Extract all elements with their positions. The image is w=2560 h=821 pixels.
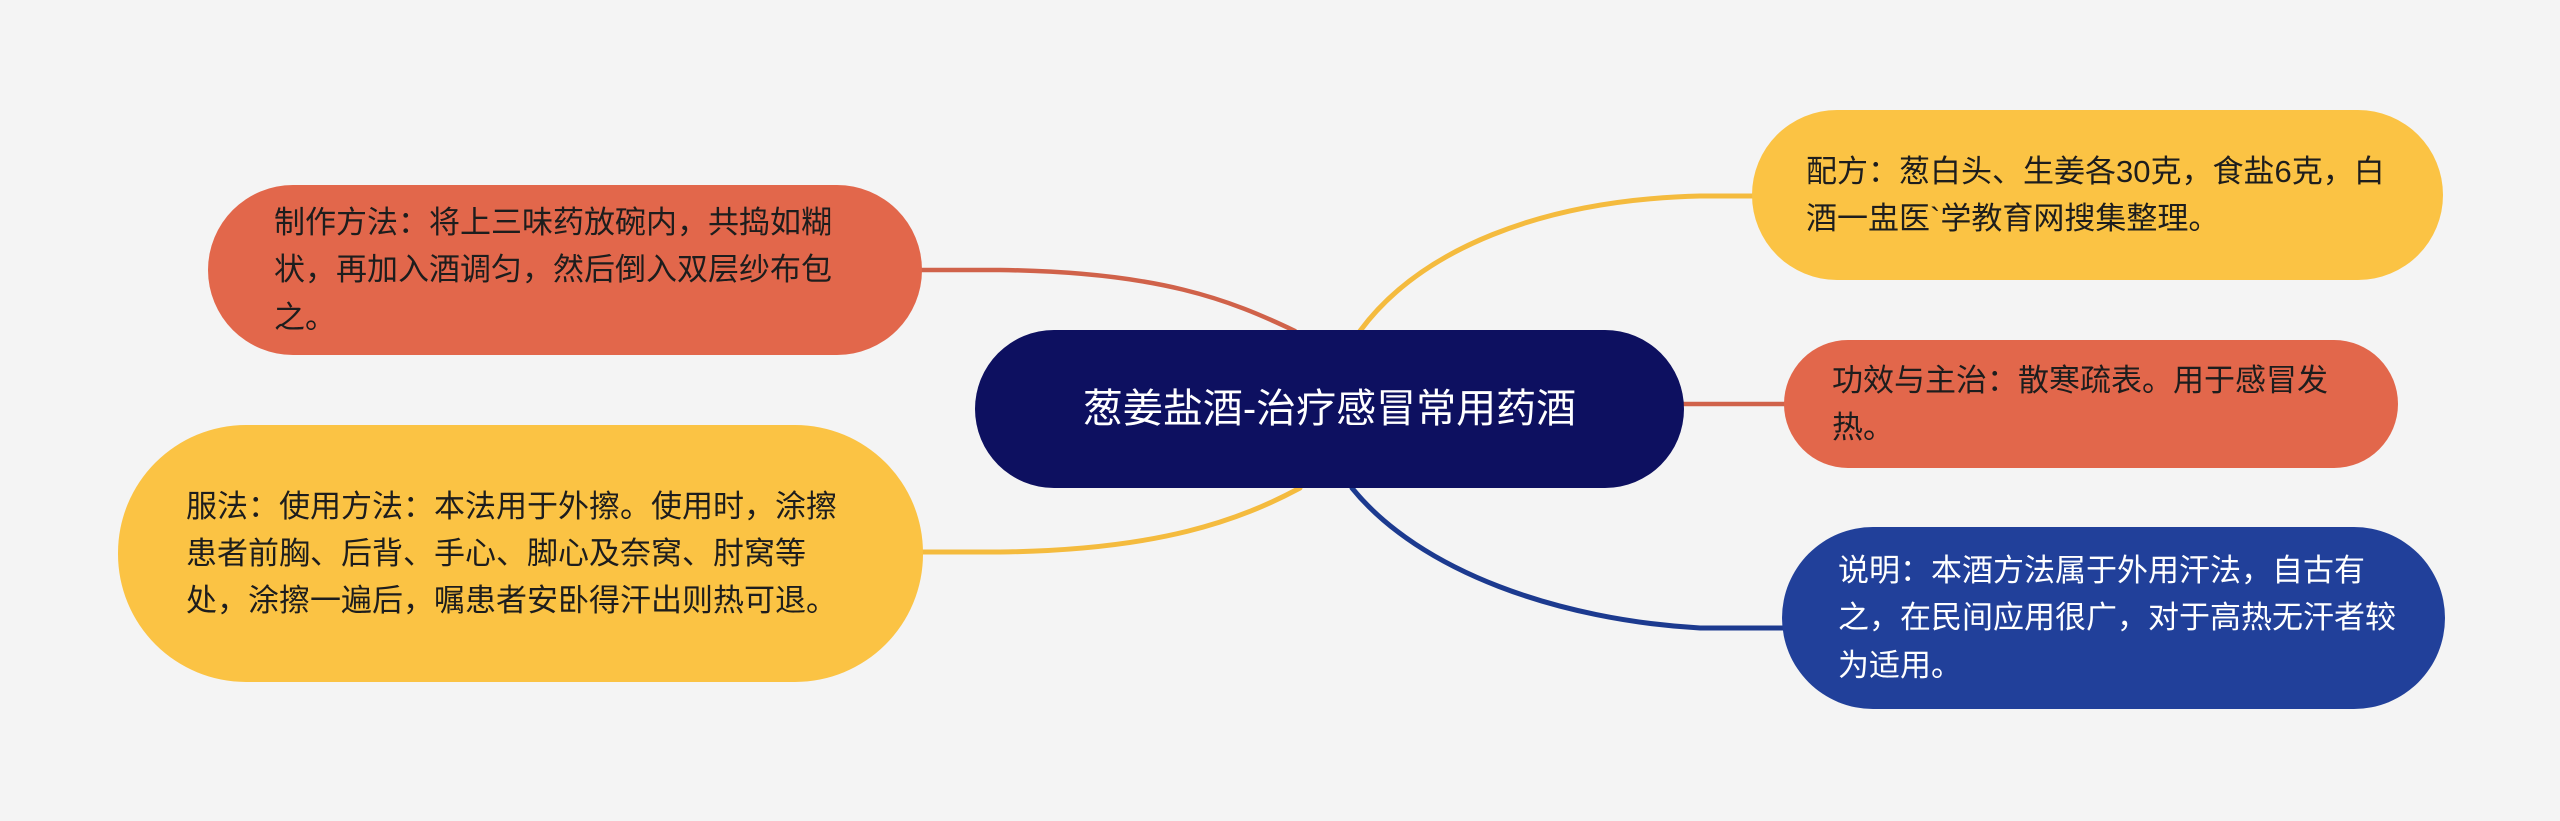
branch-label-effects: 功效与主治：散寒疏表。用于感冒发热。 xyxy=(1784,357,2398,451)
mindmap-canvas: 葱姜盐酒-治疗感冒常用药酒 制作方法：将上三味药放碗内，共捣如糊状，再加入酒调匀… xyxy=(0,0,2560,821)
central-topic-node[interactable]: 葱姜盐酒-治疗感冒常用药酒 xyxy=(975,330,1684,488)
branch-node-effects[interactable]: 功效与主治：散寒疏表。用于感冒发热。 xyxy=(1784,340,2398,468)
branch-label-preparation: 制作方法：将上三味药放碗内，共捣如糊状，再加入酒调匀，然后倒入双层纱布包之。 xyxy=(208,199,922,340)
branch-label-usage: 服法：使用方法：本法用于外擦。使用时，涂擦患者前胸、后背、手心、脚心及奈窝、肘窝… xyxy=(118,483,923,624)
branch-node-usage[interactable]: 服法：使用方法：本法用于外擦。使用时，涂擦患者前胸、后背、手心、脚心及奈窝、肘窝… xyxy=(118,425,923,682)
connector-formula xyxy=(1360,196,1752,331)
connector-usage xyxy=(920,488,1300,552)
branch-label-formula: 配方：葱白头、生姜各30克，食盐6克，白酒一盅医`学教育网搜集整理。 xyxy=(1752,148,2443,242)
connector-note xyxy=(1352,488,1790,628)
connector-preparation xyxy=(920,270,1295,331)
central-topic-label: 葱姜盐酒-治疗感冒常用药酒 xyxy=(1027,380,1632,438)
branch-node-note[interactable]: 说明：本酒方法属于外用汗法，自古有之，在民间应用很广，对于高热无汗者较为适用。 xyxy=(1782,527,2445,709)
branch-node-formula[interactable]: 配方：葱白头、生姜各30克，食盐6克，白酒一盅医`学教育网搜集整理。 xyxy=(1752,110,2443,280)
branch-node-preparation[interactable]: 制作方法：将上三味药放碗内，共捣如糊状，再加入酒调匀，然后倒入双层纱布包之。 xyxy=(208,185,922,355)
branch-label-note: 说明：本酒方法属于外用汗法，自古有之，在民间应用很广，对于高热无汗者较为适用。 xyxy=(1782,547,2445,688)
